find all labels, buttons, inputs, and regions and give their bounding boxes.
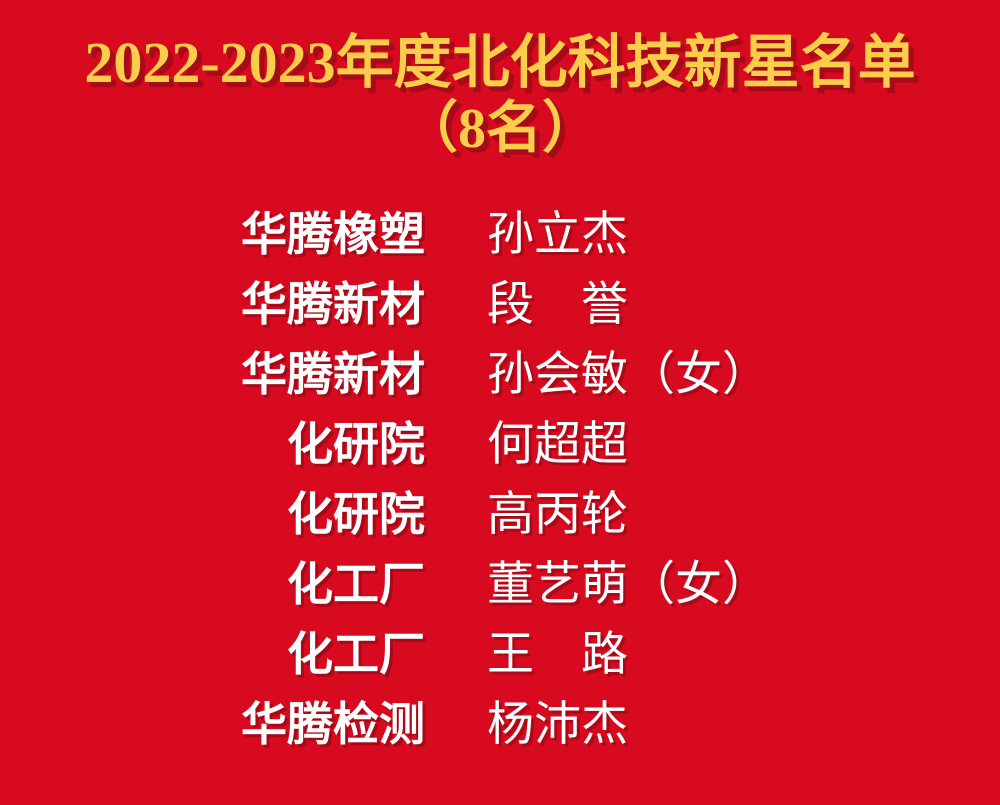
roster-name: 董艺萌（女） bbox=[487, 550, 769, 620]
roster-name: 高丙轮 bbox=[487, 480, 628, 550]
roster-org: 华腾新材 bbox=[0, 269, 425, 339]
list-item: 化工厂 董艺萌（女） bbox=[0, 549, 1000, 619]
roster-org: 华腾检测 bbox=[0, 689, 425, 759]
poster-title-block: 2022-2023年度北化科技新星名单 （8名） bbox=[0, 30, 1000, 160]
roster-name: 杨沛杰 bbox=[487, 690, 628, 760]
roster-org: 化工厂 bbox=[0, 549, 425, 619]
award-list-poster: 2022-2023年度北化科技新星名单 （8名） 华腾橡塑 孙立杰 华腾新材 段… bbox=[0, 0, 1000, 805]
page-subtitle-count: （8名） bbox=[0, 98, 1000, 160]
roster-name: 何超超 bbox=[487, 410, 628, 480]
roster-name: 段 誉 bbox=[487, 270, 628, 340]
roster-org: 化研院 bbox=[0, 479, 425, 549]
list-item: 化研院 何超超 bbox=[0, 409, 1000, 479]
roster-name: 孙立杰 bbox=[487, 200, 628, 270]
list-item: 华腾橡塑 孙立杰 bbox=[0, 199, 1000, 269]
list-item: 化工厂 王 路 bbox=[0, 619, 1000, 689]
page-title: 2022-2023年度北化科技新星名单 bbox=[0, 30, 1000, 96]
roster-name: 孙会敏（女） bbox=[487, 340, 769, 410]
roster-list: 华腾橡塑 孙立杰 华腾新材 段 誉 华腾新材 孙会敏（女） 化研院 何超超 化研… bbox=[0, 199, 1000, 759]
list-item: 化研院 高丙轮 bbox=[0, 479, 1000, 549]
list-item: 华腾新材 孙会敏（女） bbox=[0, 339, 1000, 409]
roster-org: 化工厂 bbox=[0, 619, 425, 689]
list-item: 华腾检测 杨沛杰 bbox=[0, 689, 1000, 759]
list-item: 华腾新材 段 誉 bbox=[0, 269, 1000, 339]
roster-org: 华腾橡塑 bbox=[0, 199, 425, 269]
roster-org: 化研院 bbox=[0, 409, 425, 479]
roster-name: 王 路 bbox=[487, 620, 628, 690]
roster-org: 华腾新材 bbox=[0, 339, 425, 409]
